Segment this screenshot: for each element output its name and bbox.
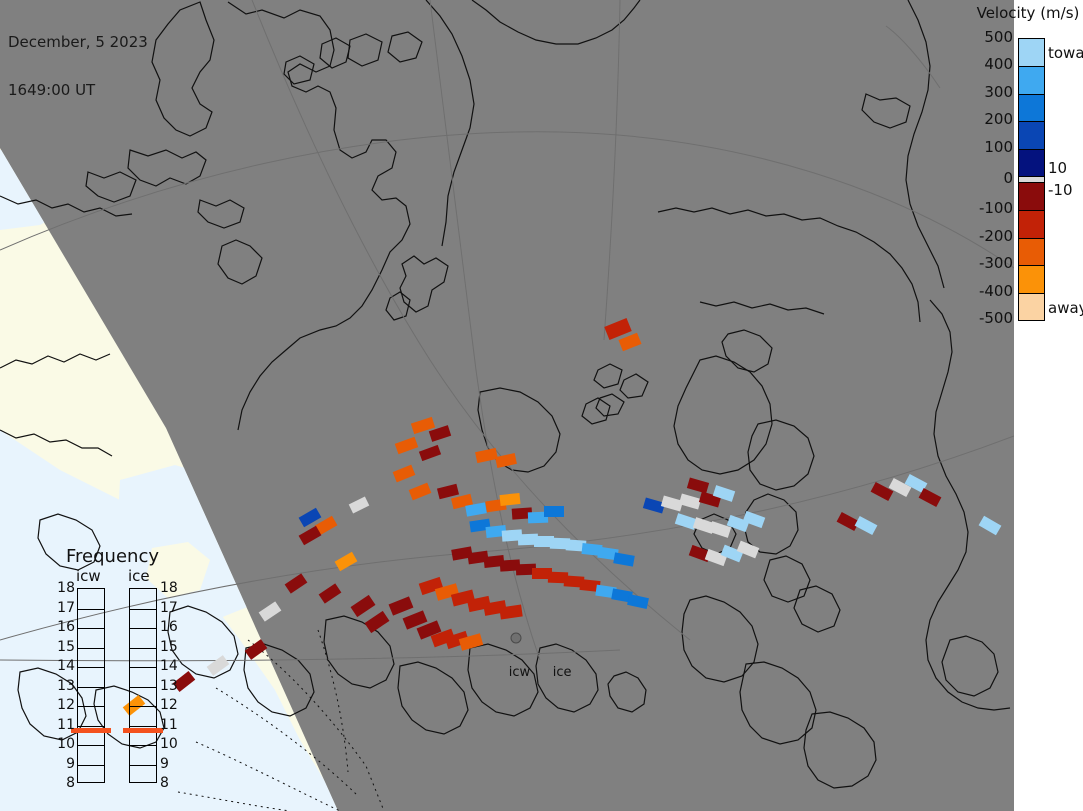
radar-labels: icwice — [484, 650, 572, 695]
frequency-axis-label-16: 16 — [160, 622, 178, 632]
velocity-map-screenshot: December, 5 2023 1649:00 UT icwice Frequ… — [0, 0, 1083, 811]
frequency-tick — [130, 745, 156, 746]
colorbar-separator — [1019, 121, 1044, 122]
frequency-tick — [78, 726, 104, 727]
timestamp-block: December, 5 2023 1649:00 UT — [8, 2, 148, 130]
velocity-cell[interactable] — [687, 477, 709, 493]
frequency-axis-label-11: 11 — [160, 720, 178, 730]
colorbar-band-away-2 — [1019, 238, 1044, 265]
velocity-cell[interactable] — [335, 552, 358, 572]
velocity-cell[interactable] — [979, 516, 1002, 536]
colorbar-band-away-4 — [1019, 293, 1044, 320]
frequency-tick — [78, 706, 104, 707]
frequency-tick — [130, 648, 156, 649]
frequency-tick — [78, 648, 104, 649]
colorbar-label-positive-threshold: 10 — [1048, 159, 1067, 177]
colorbar-band-toward-4 — [1019, 149, 1044, 176]
colorbar-tick-500: 500 — [958, 28, 1013, 46]
frequency-axis-label-17: 17 — [160, 603, 178, 613]
colorbar-separator — [1019, 265, 1044, 266]
frequency-axis-label-15: 15 — [57, 642, 75, 652]
velocity-cell[interactable] — [245, 639, 268, 660]
frequency-tick — [78, 687, 104, 688]
velocity-cell[interactable] — [499, 493, 520, 506]
colorbar-tick--300: -300 — [958, 254, 1013, 272]
frequency-bar-ice[interactable] — [129, 588, 157, 783]
frequency-tick — [78, 628, 104, 629]
colorbar-tick-300: 300 — [958, 83, 1013, 101]
frequency-axis-label-17: 17 — [57, 603, 75, 613]
frequency-tick — [78, 745, 104, 746]
colorbar-tick--500: -500 — [958, 309, 1013, 327]
velocity-cell[interactable] — [627, 594, 649, 609]
colorbar-title: Velocity (m/s) — [973, 4, 1083, 22]
velocity-cell[interactable] — [837, 512, 860, 531]
colorbar-separator — [1019, 210, 1044, 211]
frequency-tick — [130, 726, 156, 727]
colorbar-label-negative-threshold: -10 — [1048, 181, 1073, 199]
colorbar[interactable] — [1018, 38, 1045, 321]
velocity-cell[interactable] — [871, 482, 894, 501]
colorbar-separator — [1019, 94, 1044, 95]
frequency-axis-label-14: 14 — [160, 661, 178, 671]
frequency-axis-label-14: 14 — [57, 661, 75, 671]
colorbar-tick--400: -400 — [958, 282, 1013, 300]
frequency-axis-label-11: 11 — [57, 720, 75, 730]
frequency-bar-icw[interactable] — [77, 588, 105, 783]
frequency-tick — [130, 628, 156, 629]
frequency-tick — [78, 609, 104, 610]
frequency-axis-label-16: 16 — [57, 622, 75, 632]
velocity-cell[interactable] — [349, 497, 370, 514]
velocity-cell[interactable] — [409, 483, 432, 501]
frequency-axis-right: 18171615141312111098 — [160, 588, 182, 783]
frequency-column-label-icw: icw — [76, 567, 101, 585]
frequency-axis-label-12: 12 — [160, 700, 178, 710]
colorbar-band-toward-0 — [1019, 39, 1044, 66]
velocity-cell[interactable] — [207, 655, 230, 676]
radar-label-ice: ice — [553, 665, 572, 680]
frequency-axis-label-9: 9 — [66, 759, 75, 769]
velocity-cell[interactable] — [351, 595, 376, 617]
frequency-axis-label-10: 10 — [57, 739, 75, 749]
frequency-column-label-ice: ice — [128, 567, 150, 585]
velocity-cell[interactable] — [389, 596, 414, 615]
colorbar-band-toward-2 — [1019, 94, 1044, 121]
velocity-cell[interactable] — [285, 573, 308, 593]
frequency-legend[interactable]: Frequency icw ice 18171615141312111098 1… — [50, 546, 200, 796]
velocity-cell[interactable] — [319, 583, 342, 603]
colorbar-band-away-1 — [1019, 210, 1044, 237]
frequency-axis-label-15: 15 — [160, 642, 178, 652]
colorbar-separator — [1019, 66, 1044, 67]
velocity-cell[interactable] — [495, 453, 517, 468]
velocity-cell[interactable] — [259, 601, 282, 621]
time-label: 1649:00 UT — [8, 82, 148, 98]
frequency-tick — [130, 765, 156, 766]
frequency-axis-label-18: 18 — [160, 583, 178, 593]
frequency-axis-label-18: 18 — [57, 583, 75, 593]
velocity-cell[interactable] — [393, 465, 416, 483]
colorbar-tick-400: 400 — [958, 55, 1013, 73]
frequency-axis-left: 18171615141312111098 — [53, 588, 75, 783]
map-panel[interactable]: December, 5 2023 1649:00 UT icwice Frequ… — [0, 0, 1014, 811]
velocity-cell[interactable] — [395, 437, 418, 455]
colorbar-tick-100: 100 — [958, 138, 1013, 156]
velocity-cell[interactable] — [679, 493, 701, 509]
colorbar-tick--100: -100 — [958, 199, 1013, 217]
velocity-cell[interactable] — [544, 506, 564, 517]
colorbar-separator — [1019, 293, 1044, 294]
frequency-axis-label-10: 10 — [160, 739, 178, 749]
velocity-cell[interactable] — [475, 448, 498, 463]
velocity-cell[interactable] — [365, 611, 390, 633]
frequency-tick — [78, 667, 104, 668]
frequency-axis-label-8: 8 — [66, 778, 75, 788]
frequency-tick — [78, 765, 104, 766]
frequency-axis-label-9: 9 — [160, 759, 169, 769]
frequency-axis-label-13: 13 — [57, 681, 75, 691]
velocity-cell[interactable] — [855, 516, 878, 535]
colorbar-tick--200: -200 — [958, 227, 1013, 245]
colorbar-label-away: away — [1048, 299, 1083, 317]
velocity-cell[interactable] — [613, 552, 635, 566]
date-label: December, 5 2023 — [8, 34, 148, 50]
frequency-axis-label-13: 13 — [160, 681, 178, 691]
frequency-marker-icw — [71, 728, 111, 733]
velocity-cell[interactable] — [419, 445, 441, 461]
frequency-tick — [130, 706, 156, 707]
colorbar-band-neutral — [1019, 176, 1044, 183]
frequency-axis-label-12: 12 — [57, 700, 75, 710]
frequency-tick — [130, 609, 156, 610]
colorbar-band-away-3 — [1019, 265, 1044, 292]
frequency-marker-ice — [123, 728, 163, 733]
velocity-cell[interactable] — [618, 333, 641, 352]
frequency-legend-title: Frequency — [66, 546, 159, 567]
colorbar-tick-200: 200 — [958, 110, 1013, 128]
velocity-cell[interactable] — [437, 484, 459, 500]
colorbar-separator — [1019, 238, 1044, 239]
colorbar-separator — [1019, 149, 1044, 150]
frequency-tick — [130, 667, 156, 668]
frequency-tick — [130, 687, 156, 688]
colorbar-tick-0: 0 — [958, 169, 1013, 187]
radar-label-icw: icw — [509, 665, 553, 680]
colorbar-label-toward: toward — [1048, 44, 1083, 62]
colorbar-band-away-0 — [1019, 183, 1044, 210]
colorbar-band-toward-1 — [1019, 66, 1044, 93]
colorbar-band-toward-3 — [1019, 121, 1044, 148]
frequency-axis-label-8: 8 — [160, 778, 169, 788]
